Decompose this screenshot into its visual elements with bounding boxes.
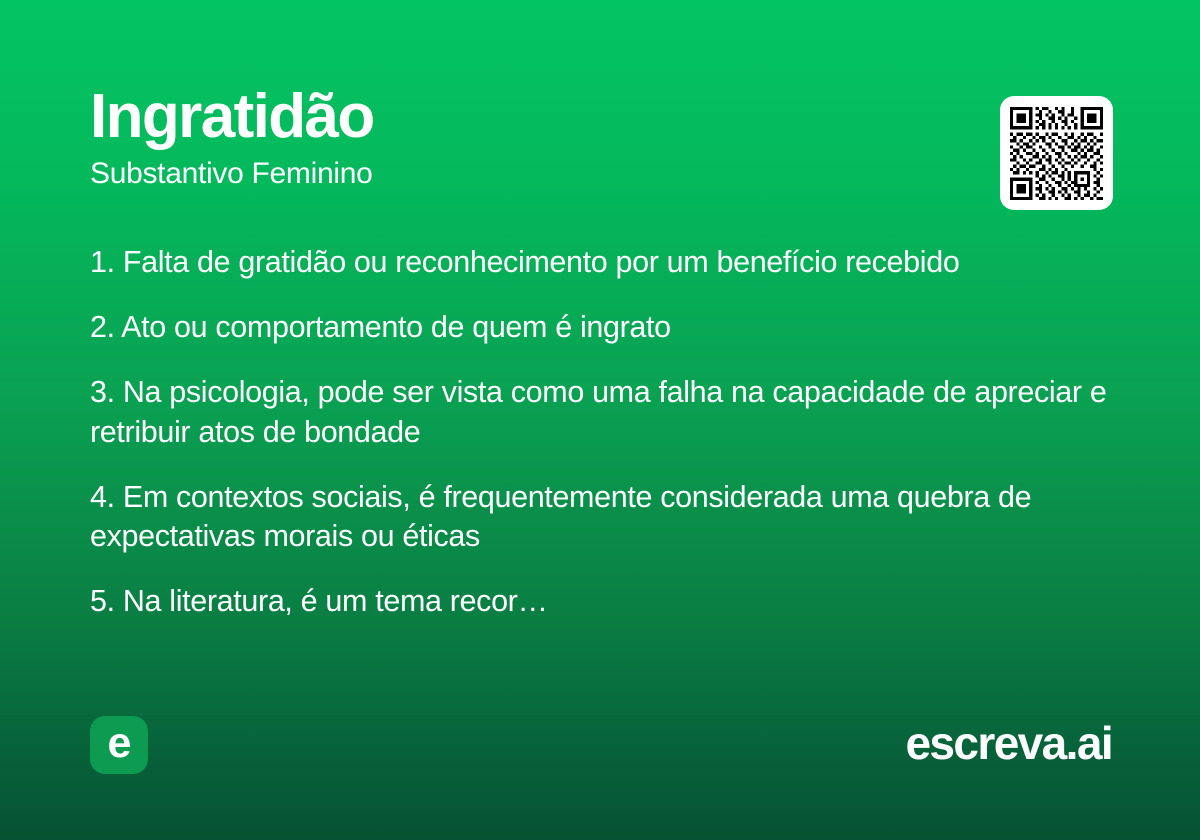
definition-item: 3. Na psicologia, pode ser vista como um…	[90, 373, 1120, 451]
definitions-list: 1. Falta de gratidão ou reconhecimento p…	[90, 243, 1120, 621]
qr-code-icon	[1010, 107, 1103, 200]
dictionary-card: Ingratidão Substantivo Feminino	[0, 0, 1200, 840]
card-footer: e escreva.ai	[0, 700, 1200, 840]
brand-name: escreva.ai	[905, 712, 1112, 774]
definition-item: 4. Em contextos sociais, é frequentement…	[90, 478, 1120, 556]
brand-logo: e	[90, 716, 148, 774]
page-title: Ingratidão	[90, 84, 970, 151]
definition-item: 2. Ato ou comportamento de quem é ingrat…	[90, 308, 1120, 347]
definition-item: 1. Falta de gratidão ou reconhecimento p…	[90, 243, 1120, 282]
card-header: Ingratidão Substantivo Feminino	[90, 84, 970, 191]
qr-code-badge[interactable]	[1000, 96, 1113, 210]
word-class-label: Substantivo Feminino	[90, 157, 970, 192]
brand-logo-letter: e	[108, 722, 131, 765]
definition-item: 5. Na literatura, é um tema recor…	[90, 582, 1120, 621]
